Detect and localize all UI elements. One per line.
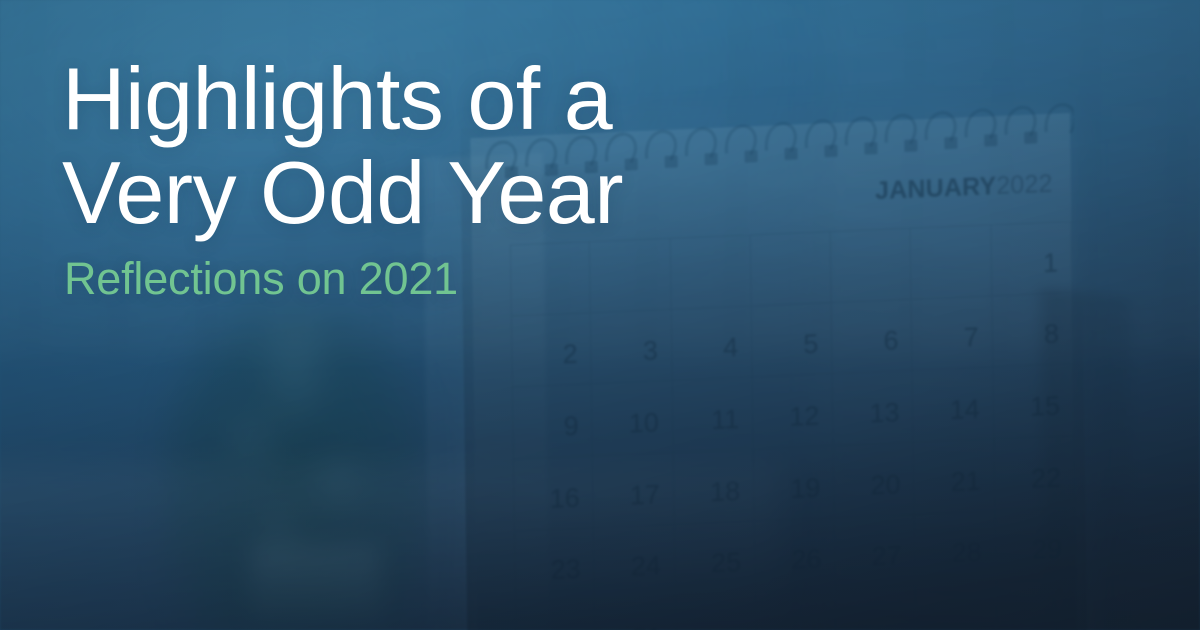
page-title: Highlights of a Very Odd Year [62, 52, 882, 240]
headline-line-1: Highlights of a [62, 52, 882, 146]
headline-line-2: Very Odd Year [62, 146, 882, 240]
headline-block: Highlights of a Very Odd Year Reflection… [62, 52, 882, 304]
page-subtitle: Reflections on 2021 [64, 254, 882, 304]
banner-image: JANUARY2022 1234567891011121314151617181… [0, 0, 1200, 630]
